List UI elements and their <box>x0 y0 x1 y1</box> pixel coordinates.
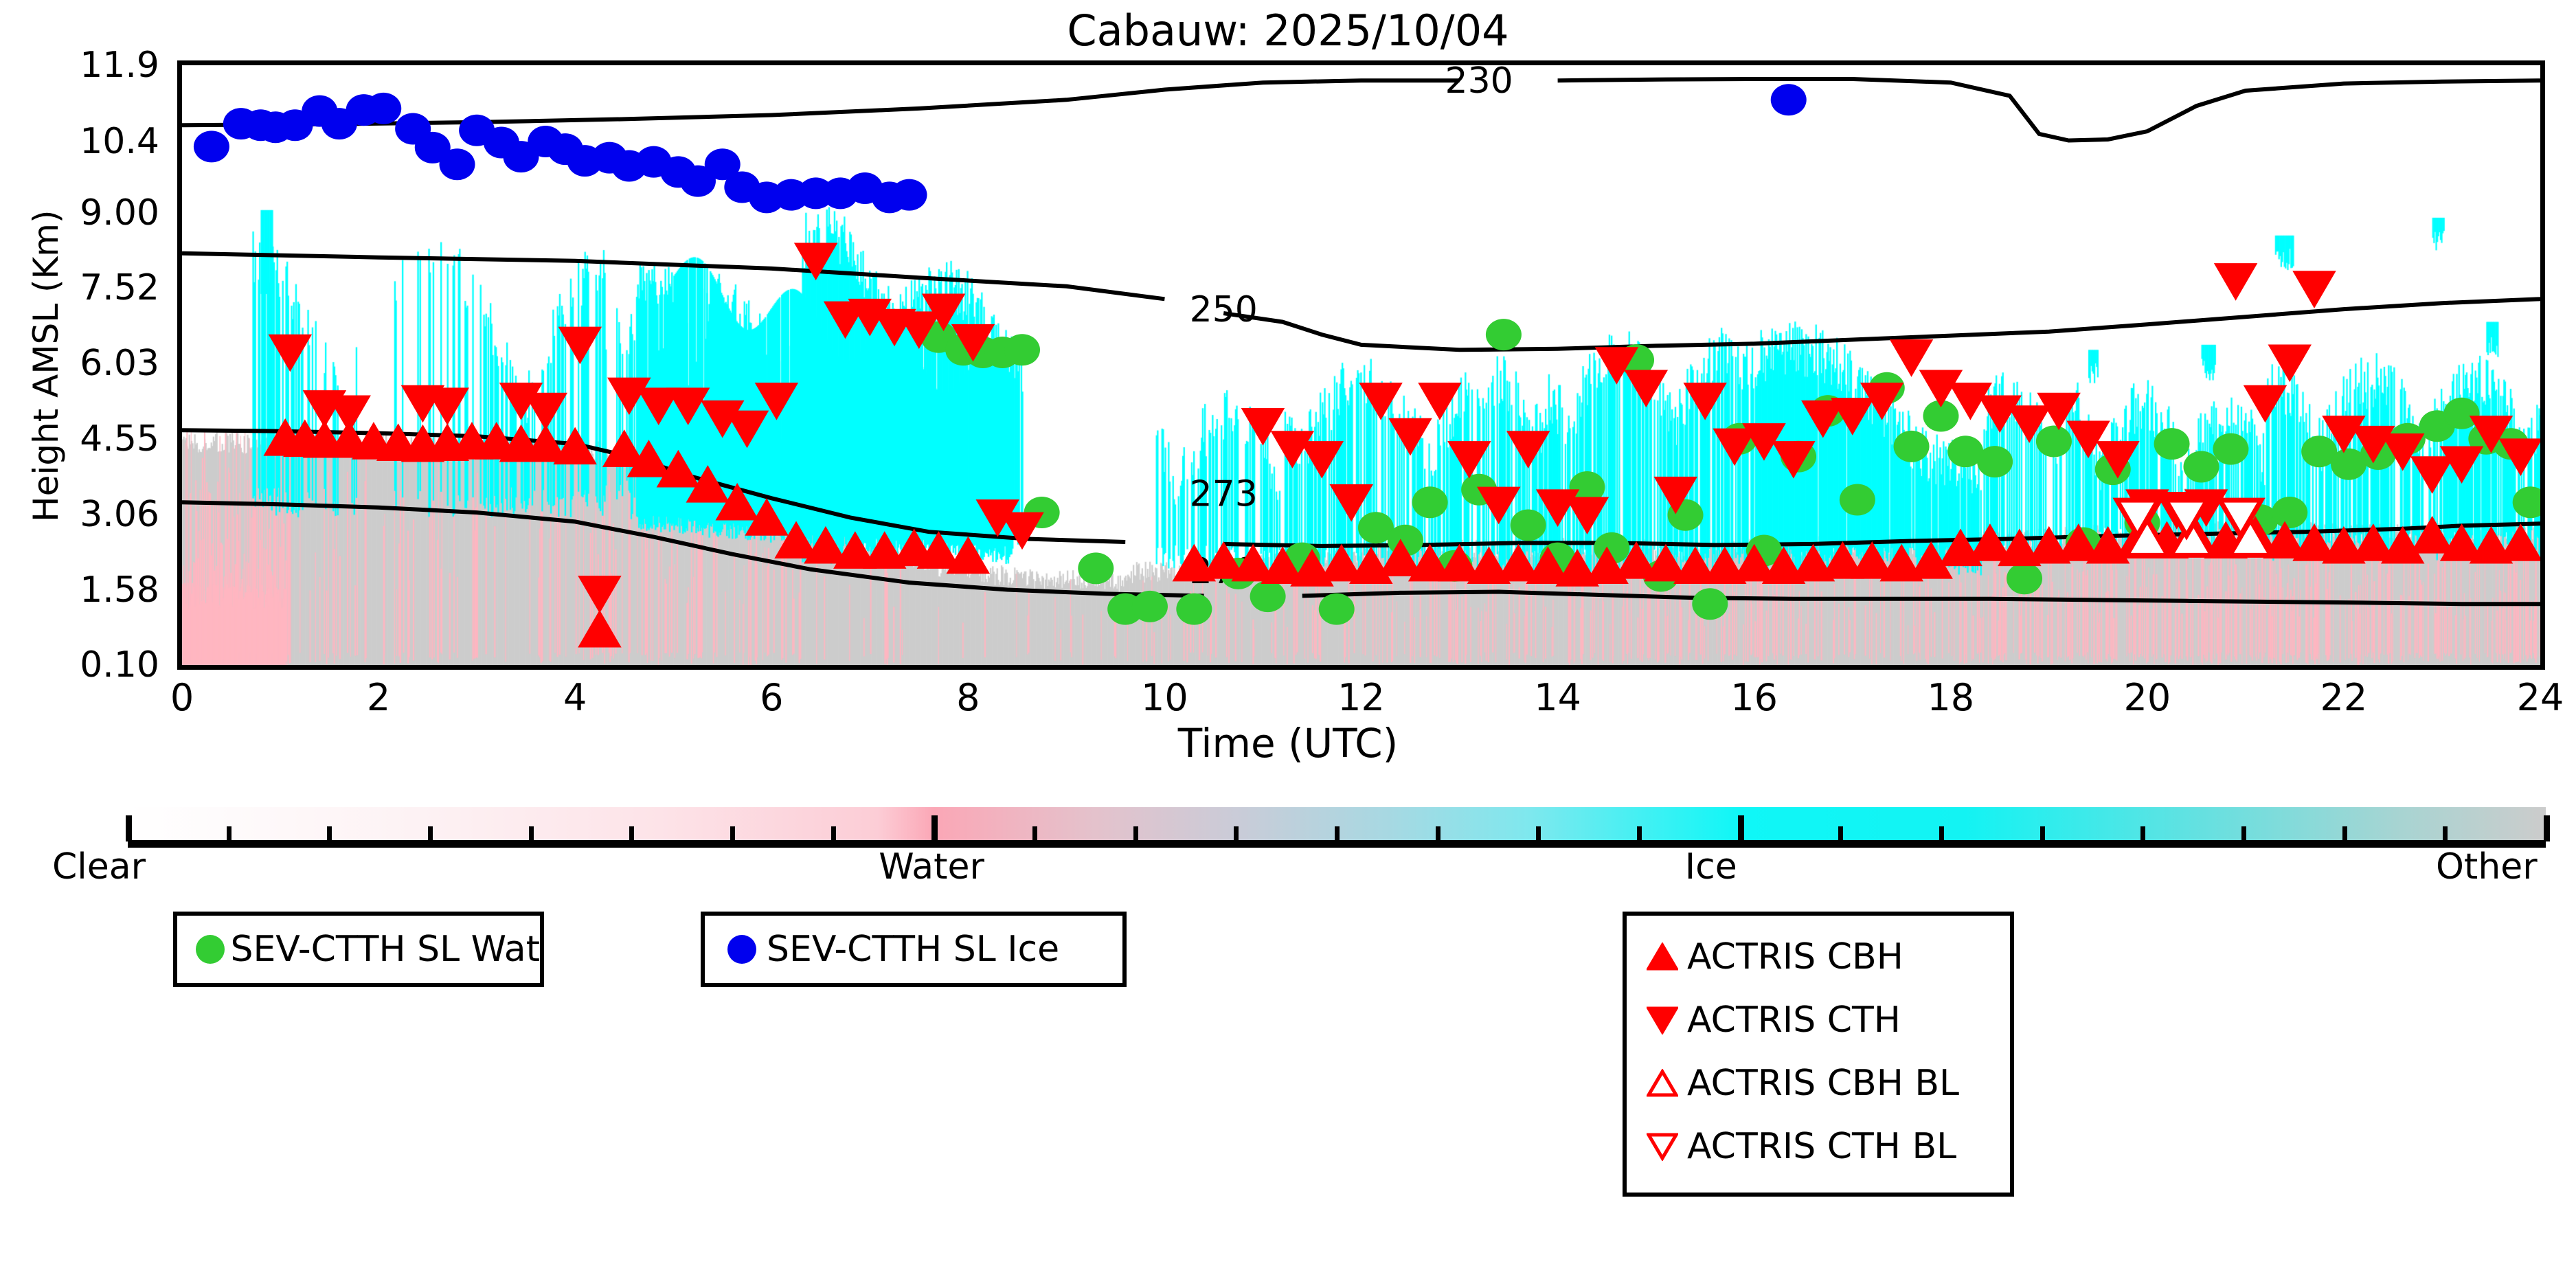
colorbar-tick <box>831 826 836 841</box>
sev-ctth-sl-ice-point <box>892 179 927 211</box>
x-axis-ticklabel: 0 <box>170 676 194 719</box>
y-axis-ticklabel: 3.06 <box>0 494 159 535</box>
legend-marker-triangle-up-filled-icon <box>1638 942 1687 971</box>
colorbar-tick <box>1637 826 1642 841</box>
colorbar-tick <box>1234 826 1239 841</box>
colorbar-label: Water <box>879 846 984 888</box>
y-axis-ticklabel: 0.10 <box>0 644 159 686</box>
actris-cbh-marker <box>579 611 620 647</box>
legend-label-actris: ACTRIS CTH BL <box>1687 1126 1956 1167</box>
legend-marker-green-circle-icon <box>190 935 230 964</box>
sev-ctth-sl-wat-point <box>1894 431 1930 462</box>
colorbar-tick <box>126 815 132 841</box>
sev-ctth-sl-wat-point <box>2007 563 2042 594</box>
colorbar-tick <box>1738 815 1744 841</box>
legend-item-actris-cbh-bl[interactable]: ACTRIS CBH BL <box>1627 1052 2010 1115</box>
actris-cth-marker <box>1390 419 1431 455</box>
x-axis-ticklabel: 14 <box>1534 676 1581 719</box>
colorbar-tick <box>428 826 433 841</box>
colorbar-tick <box>1436 826 1440 841</box>
actris-cbh-marker <box>947 538 988 574</box>
actris-cth-marker <box>1002 513 1043 549</box>
y-axis-ticklabel: 7.52 <box>0 267 159 308</box>
colorbar-tick <box>2241 826 2246 841</box>
x-axis-ticklabel: 24 <box>2517 676 2564 719</box>
sev-ctth-sl-wat-point <box>1078 552 1114 584</box>
colorbar-tick <box>1133 826 1138 841</box>
legend-item-actris-cth-bl[interactable]: ACTRIS CTH BL <box>1627 1115 2010 1178</box>
actris-cbh-marker <box>2412 517 2453 553</box>
sev-ctth-sl-wat-point <box>2444 398 2480 429</box>
y-axis-ticklabel: 6.03 <box>0 343 159 384</box>
x-axis-ticklabel: 12 <box>1337 676 1385 719</box>
x-axis-ticklabel: 2 <box>367 676 390 719</box>
legend-label-actris: ACTRIS CBH <box>1687 936 1903 978</box>
actris-cth-marker <box>559 328 600 363</box>
sev-ctth-sl-wat-point <box>1692 588 1728 620</box>
legend-label-actris: ACTRIS CTH <box>1687 999 1901 1041</box>
actris-cth-marker <box>1301 442 1342 477</box>
sev-ctth-sl-wat-point <box>1486 319 1522 350</box>
legend-label-sev-ice: SEV-CTTH SL Ice <box>767 929 1059 970</box>
actris-cth-marker <box>1566 497 1607 533</box>
actris-cth-marker <box>1449 442 1490 477</box>
colorbar-tick <box>2140 826 2145 841</box>
colorbar-tick <box>730 826 735 841</box>
page-title: Cabauw: 2025/10/04 <box>0 5 2576 56</box>
colorbar-tick <box>227 826 231 841</box>
actris-cth-marker <box>1360 383 1401 419</box>
sev-ctth-sl-wat-point <box>1977 446 2013 477</box>
actris-cbh-marker <box>2500 525 2540 561</box>
colorbar-tick <box>2342 826 2347 841</box>
plot-area[interactable]: 230250273279 <box>177 60 2545 670</box>
actris-cth-marker <box>2294 271 2335 307</box>
actris-cth-marker <box>726 411 767 447</box>
legend-item-actris-cbh[interactable]: ACTRIS CBH <box>1627 925 2010 988</box>
colorbar-tick <box>1838 826 1843 841</box>
x-axis-ticklabel: 22 <box>2320 676 2368 719</box>
sev-ctth-sl-wat-point <box>2036 425 2072 457</box>
x-axis-ticklabel: 20 <box>2123 676 2171 719</box>
x-axis-ticklabel: 4 <box>563 676 587 719</box>
legend-item-actris-cth[interactable]: ACTRIS CTH <box>1627 988 2010 1052</box>
x-axis-ticklabel: 16 <box>1730 676 1778 719</box>
sev-ctth-sl-wat-point <box>1250 580 1286 612</box>
legend-marker-blue-circle-icon <box>717 935 767 964</box>
sev-ctth-sl-wat-point <box>2513 486 2540 518</box>
legend-sev-ctth-sl-wat[interactable]: SEV-CTTH SL Wat <box>173 912 544 987</box>
sev-ctth-sl-wat-point <box>1840 484 1875 516</box>
sev-ctth-sl-wat-point <box>1319 594 1355 625</box>
colorbar-axis-line <box>128 840 2546 848</box>
actris-cth-marker <box>1508 431 1549 467</box>
colorbar-tick <box>2443 826 2448 841</box>
actris-cth-marker <box>2269 346 2310 381</box>
legend-actris[interactable]: ACTRIS CBHACTRIS CTHACTRIS CBH BLACTRIS … <box>1623 912 2014 1197</box>
x-axis-ticklabel: 6 <box>760 676 783 719</box>
sev-ctth-sl-wat-point <box>2154 428 2190 460</box>
isotherm-label-273: 273 <box>1190 473 1258 515</box>
sev-ctth-sl-wat-point <box>2213 433 2248 465</box>
colorbar-tick <box>529 826 534 841</box>
colorbar-tick <box>1939 826 1944 841</box>
markers-overlay: 230250273279 <box>182 65 2540 665</box>
figure-root: Cabauw: 2025/10/04 Height AMSL (Km) 11.9… <box>0 0 2576 1288</box>
x-axis-ticklabel: 10 <box>1141 676 1188 719</box>
y-axis-ticklabel: 1.58 <box>0 569 159 611</box>
sev-ctth-sl-wat-point <box>1176 594 1212 625</box>
colorbar-tick <box>1536 826 1541 841</box>
sev-ctth-sl-wat-point <box>2184 451 2219 482</box>
y-axis-ticklabel: 11.9 <box>0 45 159 86</box>
colorbar-tick <box>2544 815 2550 841</box>
actris-cth-marker <box>328 396 370 431</box>
x-axis-label: Time (UTC) <box>0 720 2576 767</box>
y-axis-ticklabel: 4.55 <box>0 418 159 460</box>
actris-cth-marker <box>427 388 468 424</box>
actris-cth-marker <box>2244 386 2285 422</box>
actris-cth-marker <box>2215 264 2257 300</box>
sev-ctth-sl-ice-point <box>440 148 475 180</box>
sev-ctth-sl-ice-point <box>365 93 401 124</box>
x-axis-ticklabel: 18 <box>1927 676 1974 719</box>
legend-marker-triangle-down-filled-icon <box>1638 1006 1687 1035</box>
sev-ctth-sl-ice-point <box>1771 84 1807 115</box>
actris-cth-marker <box>2412 457 2453 493</box>
isotherm-label-230: 230 <box>1445 65 1513 102</box>
actris-cth-marker <box>525 394 566 429</box>
sev-ctth-sl-wat-point <box>2272 497 2307 528</box>
sev-ctth-sl-wat-point <box>1412 486 1448 518</box>
actris-cth-marker <box>1625 370 1667 406</box>
colorbar-tick <box>1335 826 1340 841</box>
colorbar-tick <box>327 826 332 841</box>
legend-marker-triangle-up-open-icon <box>1638 1069 1687 1098</box>
x-axis-ticklabel: 8 <box>956 676 980 719</box>
colorbar-tick <box>2040 826 2045 841</box>
actris-cth-marker <box>1684 383 1726 419</box>
colorbar-label: Other <box>2436 846 2538 888</box>
sev-ctth-sl-wat-point <box>1004 334 1040 365</box>
y-axis-ticklabel: 9.00 <box>0 192 159 234</box>
legend-marker-triangle-down-open-icon <box>1638 1132 1687 1161</box>
legend-label-sev-wat: SEV-CTTH SL Wat <box>230 929 540 970</box>
actris-cth-marker <box>668 388 709 424</box>
colorbar <box>128 807 2546 840</box>
y-axis-ticklabel: 10.4 <box>0 121 159 162</box>
isotherm-contour-250 <box>1223 299 2540 350</box>
colorbar-tick <box>1032 826 1037 841</box>
colorbar-label: Clear <box>52 846 146 888</box>
isotherm-contour-230 <box>1558 79 2540 141</box>
isotherm-contour-250 <box>182 253 1164 300</box>
colorbar-label: Ice <box>1685 846 1737 888</box>
sev-ctth-sl-wat-point <box>1132 591 1168 622</box>
colorbar-tick <box>629 826 634 841</box>
legend-sev-ctth-sl-ice[interactable]: SEV-CTTH SL Ice <box>701 912 1127 987</box>
legend-label-actris: ACTRIS CBH BL <box>1687 1063 1959 1104</box>
sev-ctth-sl-ice-point <box>194 131 229 162</box>
isotherm-contour-279 <box>1302 592 2540 605</box>
colorbar-tick <box>931 815 938 841</box>
actris-cth-marker <box>269 335 310 371</box>
actris-cth-marker <box>579 576 620 612</box>
actris-cth-marker <box>1419 383 1460 419</box>
sev-ctth-sl-wat-point <box>1511 510 1546 541</box>
isotherm-label-250: 250 <box>1190 289 1258 330</box>
